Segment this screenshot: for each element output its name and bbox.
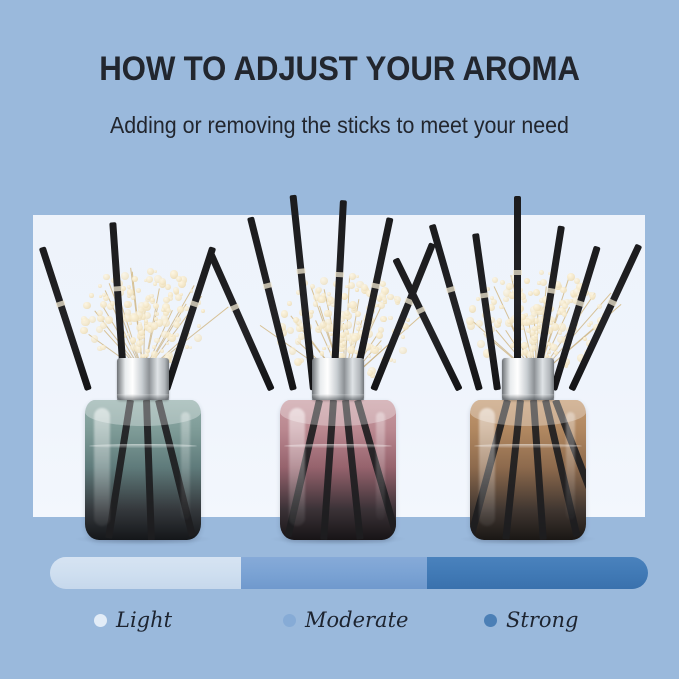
flower-floret <box>316 326 320 330</box>
bottle-cap <box>117 358 169 400</box>
flower-floret <box>131 295 136 300</box>
flower-floret <box>356 281 364 289</box>
legend-dot-moderate-icon <box>283 614 296 627</box>
flower-floret <box>340 332 346 338</box>
flower-floret <box>529 337 537 345</box>
light-bottle <box>83 358 203 540</box>
flower-floret <box>310 284 315 289</box>
flower-floret <box>281 310 288 317</box>
flower-floret <box>295 319 302 326</box>
flower-floret <box>539 270 544 275</box>
flower-floret <box>406 318 410 322</box>
flower-floret <box>320 277 328 285</box>
flower-floret <box>547 350 551 354</box>
flower-floret <box>564 299 569 304</box>
flower-floret <box>190 289 193 292</box>
flower-floret <box>97 346 103 352</box>
flower-floret <box>380 281 386 287</box>
flower-floret <box>533 289 540 296</box>
flower-floret <box>153 303 159 309</box>
flower-floret <box>344 310 350 316</box>
flower-floret <box>127 333 130 336</box>
flower-floret <box>381 287 389 295</box>
flower-floret <box>351 345 355 349</box>
flower-floret <box>590 295 595 300</box>
flower-floret <box>351 301 355 305</box>
bottle-cap <box>312 358 364 400</box>
flower-floret <box>520 314 526 320</box>
flower-floret <box>313 293 321 301</box>
flower-floret <box>537 281 541 285</box>
flower-floret <box>138 322 142 326</box>
flower-floret <box>161 315 167 321</box>
flower-floret <box>151 351 158 358</box>
flower-floret <box>154 270 157 273</box>
flower-floret <box>165 284 171 290</box>
flower-floret <box>160 349 164 353</box>
flower-floret <box>173 321 180 328</box>
flower-floret <box>549 343 555 349</box>
flower-floret <box>341 324 347 330</box>
flower-floret <box>529 319 535 325</box>
flower-floret <box>343 337 346 340</box>
flower-floret <box>121 272 129 280</box>
flower-floret <box>317 296 324 303</box>
flower-floret <box>179 276 186 283</box>
flower-floret <box>559 300 566 307</box>
flower-floret <box>349 338 356 345</box>
flower-floret <box>150 299 155 304</box>
flower-floret <box>168 334 176 342</box>
flower-floret <box>147 268 154 275</box>
flower-floret <box>535 331 538 334</box>
flower-floret <box>521 342 528 349</box>
flower-floret <box>380 316 387 323</box>
flower-floret <box>531 311 537 317</box>
flower-floret <box>382 297 387 302</box>
scale-segment-light[interactable] <box>50 557 241 589</box>
flower-floret <box>371 346 379 354</box>
flower-floret <box>124 301 131 308</box>
flower-floret <box>528 291 533 296</box>
flower-floret <box>597 304 602 309</box>
flower-floret <box>166 332 172 338</box>
flower-floret <box>467 322 476 331</box>
flower-floret <box>144 324 151 331</box>
flower-floret <box>531 327 535 331</box>
flower-floret <box>527 315 535 323</box>
flower-floret <box>81 316 87 322</box>
flower-floret <box>340 353 345 358</box>
flower-floret <box>399 347 407 355</box>
flower-floret <box>197 324 201 328</box>
flower-floret <box>467 320 473 326</box>
flower-floret <box>394 296 401 303</box>
flower-floret <box>143 301 149 307</box>
flower-floret <box>147 326 154 333</box>
scale-segment-moderate[interactable] <box>241 557 426 589</box>
flower-floret <box>352 333 359 340</box>
flower-floret <box>589 292 592 295</box>
page-title: HOW TO ADJUST YOUR AROMA <box>27 50 652 89</box>
flower-floret <box>287 301 292 306</box>
flower-floret <box>154 317 158 321</box>
flower-floret <box>138 307 144 313</box>
legend-dot-light-icon <box>94 614 107 627</box>
flower-floret <box>128 317 133 322</box>
flower-floret <box>571 292 576 297</box>
flower-floret <box>355 288 359 292</box>
flower-floret <box>534 339 538 343</box>
flower-floret <box>100 316 105 321</box>
legend-label-moderate: Moderate <box>305 608 408 632</box>
flower-floret <box>536 305 542 311</box>
flower-floret <box>351 335 357 341</box>
flower-floret <box>154 275 162 283</box>
flower-floret <box>540 279 547 286</box>
flower-floret <box>558 307 566 315</box>
flower-floret <box>177 306 184 313</box>
flower-floret <box>522 349 529 356</box>
flower-floret <box>125 309 132 316</box>
flower-floret <box>98 284 103 289</box>
flower-floret <box>127 293 131 297</box>
flower-floret <box>507 320 511 324</box>
flower-floret <box>401 335 405 339</box>
flower-floret <box>551 323 559 331</box>
flower-floret <box>524 278 530 284</box>
flower-floret <box>320 351 325 356</box>
flower-floret <box>105 316 113 324</box>
flower-floret <box>350 333 355 338</box>
flower-floret <box>342 341 346 345</box>
flower-floret <box>323 324 332 333</box>
flower-floret <box>309 310 313 314</box>
scale-segment-strong[interactable] <box>427 557 648 589</box>
flower-floret <box>348 282 355 289</box>
flower-floret <box>138 302 146 310</box>
flower-floret <box>567 273 575 281</box>
flower-floret <box>349 301 357 309</box>
flower-floret <box>345 333 353 341</box>
intensity-scale-bar[interactable] <box>50 557 648 589</box>
flower-floret <box>136 347 140 351</box>
flower-floret <box>388 316 393 321</box>
flower-floret <box>394 296 397 299</box>
flower-floret <box>137 332 145 340</box>
legend-item-moderate[interactable]: Moderate <box>283 608 408 632</box>
flower-floret <box>100 301 107 308</box>
flower-floret <box>89 293 94 298</box>
flower-floret <box>174 289 179 294</box>
flower-floret <box>130 344 137 351</box>
flower-floret <box>140 308 146 314</box>
flower-floret <box>352 306 356 310</box>
flower-floret <box>163 310 169 316</box>
flower-floret <box>349 273 356 280</box>
flower-floret <box>499 305 503 309</box>
flower-floret <box>551 319 555 323</box>
flower-floret <box>589 321 593 325</box>
flower-floret <box>531 332 535 336</box>
flower-floret <box>583 337 587 341</box>
flower-floret <box>143 303 151 311</box>
light-diffuser <box>43 120 243 540</box>
flower-floret <box>526 328 531 333</box>
flower-floret <box>318 296 325 303</box>
flower-floret <box>149 294 153 298</box>
flower-floret <box>361 286 369 294</box>
flower-floret <box>325 319 332 326</box>
flower-floret <box>547 342 551 346</box>
flower-floret <box>97 310 104 317</box>
flower-floret <box>173 287 179 293</box>
flower-floret <box>491 299 497 305</box>
flower-floret <box>166 308 172 314</box>
poster-stage: HOW TO ADJUST YOUR AROMA Adding or remov… <box>0 0 679 679</box>
flower-floret <box>558 330 562 334</box>
flower-floret <box>316 287 323 294</box>
flower-floret <box>532 326 538 332</box>
flower-floret <box>151 322 158 329</box>
flower-floret <box>125 301 132 308</box>
flower-floret <box>497 318 503 324</box>
flower-floret <box>127 289 133 295</box>
flower-floret <box>153 282 157 286</box>
flower-floret <box>557 311 561 315</box>
flower-floret <box>134 311 142 319</box>
bottle-jar <box>280 400 396 540</box>
flower-floret <box>326 310 333 317</box>
flower-floret <box>562 303 569 310</box>
flower-floret <box>145 296 151 302</box>
flower-floret <box>170 270 178 278</box>
flower-floret <box>368 344 374 350</box>
flower-floret <box>159 278 166 285</box>
flower-floret <box>375 304 379 308</box>
diffuser-group <box>33 120 645 540</box>
flower-floret <box>494 320 502 328</box>
flower-floret <box>81 318 90 327</box>
flower-floret <box>343 313 349 319</box>
flower-floret <box>130 314 139 323</box>
legend-item-strong[interactable]: Strong <box>484 608 578 632</box>
flower-floret <box>123 314 132 323</box>
flower-floret <box>144 321 148 325</box>
flower-floret <box>148 322 153 327</box>
flower-floret <box>320 321 327 328</box>
moderate-diffuser <box>238 120 438 540</box>
flower-floret <box>345 330 349 334</box>
flower-floret <box>162 319 170 327</box>
flower-floret <box>534 334 538 338</box>
flower-floret <box>550 344 558 352</box>
flower-floret <box>383 318 387 322</box>
flower-floret <box>201 309 205 313</box>
flower-floret <box>144 319 148 323</box>
flower-floret <box>319 323 325 329</box>
flower-floret <box>531 334 538 341</box>
flower-floret <box>550 317 555 322</box>
flower-floret <box>175 317 181 323</box>
flower-floret <box>379 292 387 300</box>
flower-floret <box>91 335 99 343</box>
flower-floret <box>163 297 170 304</box>
flower-floret <box>589 292 596 299</box>
flower-floret <box>161 331 168 338</box>
flower-floret <box>554 351 557 354</box>
flower-floret <box>539 298 544 303</box>
flower-floret <box>529 345 536 352</box>
moderate-bottle <box>278 358 398 540</box>
flower-floret <box>469 305 476 312</box>
flower-floret <box>490 296 494 300</box>
flower-floret <box>167 337 170 340</box>
flower-floret <box>141 335 145 339</box>
flower-floret <box>500 280 505 285</box>
flower-floret <box>506 285 511 290</box>
bottle-jar <box>470 400 586 540</box>
legend-item-light[interactable]: Light <box>94 608 172 632</box>
flower-floret <box>321 293 326 298</box>
flower-floret <box>89 316 96 323</box>
flower-floret <box>492 277 498 283</box>
flower-floret <box>135 345 143 353</box>
flower-floret <box>524 313 528 317</box>
flower-floret <box>387 294 394 301</box>
flower-floret <box>154 312 158 316</box>
flower-floret <box>129 313 137 321</box>
flower-floret <box>296 325 303 332</box>
flower-floret <box>100 322 107 329</box>
flower-floret <box>344 312 352 320</box>
flower-floret <box>347 346 355 354</box>
flower-floret <box>97 315 104 322</box>
flower-floret <box>132 276 138 282</box>
flower-floret <box>127 285 131 289</box>
flower-floret <box>342 347 346 351</box>
flower-floret <box>102 293 106 297</box>
flower-floret <box>361 284 368 291</box>
flower-floret <box>322 347 325 350</box>
flower-floret <box>378 345 383 350</box>
flower-floret <box>130 337 137 344</box>
flower-floret <box>558 323 566 331</box>
flower-floret <box>156 319 164 327</box>
flower-floret <box>535 307 541 313</box>
flower-floret <box>144 279 148 283</box>
flower-floret <box>168 296 173 301</box>
flower-floret <box>327 292 331 296</box>
flower-floret <box>138 327 142 331</box>
flower-floret <box>144 322 152 330</box>
flower-floret <box>150 298 154 302</box>
flower-floret <box>315 288 320 293</box>
flower-floret <box>162 303 170 311</box>
legend-dot-strong-icon <box>484 614 497 627</box>
flower-floret <box>154 338 160 344</box>
flower-floret <box>289 347 297 355</box>
flower-floret <box>529 329 536 336</box>
flower-floret <box>355 311 361 317</box>
flower-floret <box>136 288 141 293</box>
flower-floret <box>560 287 567 294</box>
flower-floret <box>339 341 346 348</box>
flower-floret <box>127 289 134 296</box>
flower-floret <box>185 345 189 349</box>
flower-floret <box>521 317 529 325</box>
flower-floret <box>180 293 183 296</box>
flower-floret <box>570 290 576 296</box>
flower-floret <box>152 345 156 349</box>
flower-floret <box>295 338 302 345</box>
flower-floret <box>146 276 153 283</box>
flower-floret <box>315 326 323 334</box>
flower-floret <box>477 340 485 348</box>
flower-floret <box>313 301 318 306</box>
flower-floret <box>159 280 167 288</box>
flower-floret <box>194 334 202 342</box>
flower-floret <box>532 345 537 350</box>
flower-floret <box>161 308 165 312</box>
flower-floret <box>377 296 382 301</box>
flower-floret <box>129 322 133 326</box>
flower-floret <box>175 294 182 301</box>
flower-floret <box>395 300 400 305</box>
flower-floret <box>569 299 573 303</box>
flower-floret <box>103 274 109 280</box>
flower-floret <box>522 318 531 327</box>
flower-floret <box>358 325 362 329</box>
flower-floret <box>356 321 360 325</box>
flower-floret <box>100 345 105 350</box>
flower-floret <box>574 278 580 284</box>
flower-floret <box>356 327 360 331</box>
flower-floret <box>530 306 538 314</box>
flower-floret <box>537 325 541 329</box>
flower-floret <box>145 353 149 357</box>
flower-floret <box>526 319 532 325</box>
flower-floret <box>533 318 539 324</box>
flower-floret <box>373 346 376 349</box>
flower-floret <box>497 322 501 326</box>
flower-floret <box>522 349 528 355</box>
flower-floret <box>345 332 349 336</box>
legend-label-light: Light <box>116 608 172 632</box>
flower-floret <box>347 303 352 308</box>
flower-floret <box>80 327 88 335</box>
flower-floret <box>139 340 144 345</box>
flower-floret <box>355 288 359 292</box>
flower-floret <box>327 296 333 302</box>
flower-floret <box>136 340 143 347</box>
flower-floret <box>107 303 115 311</box>
flower-floret <box>145 349 149 353</box>
flower-floret <box>345 321 352 328</box>
flower-floret <box>562 312 568 318</box>
flower-floret <box>293 317 299 323</box>
legend-label-strong: Strong <box>506 608 578 632</box>
flower-floret <box>99 295 102 298</box>
flower-floret <box>345 285 349 289</box>
flower-floret <box>178 280 186 288</box>
intensity-legend: Light Moderate Strong <box>50 608 648 648</box>
flower-floret <box>327 301 331 305</box>
flower-floret <box>351 307 356 312</box>
flower-floret <box>505 319 513 327</box>
flower-floret <box>136 315 142 321</box>
flower-floret <box>503 297 508 302</box>
